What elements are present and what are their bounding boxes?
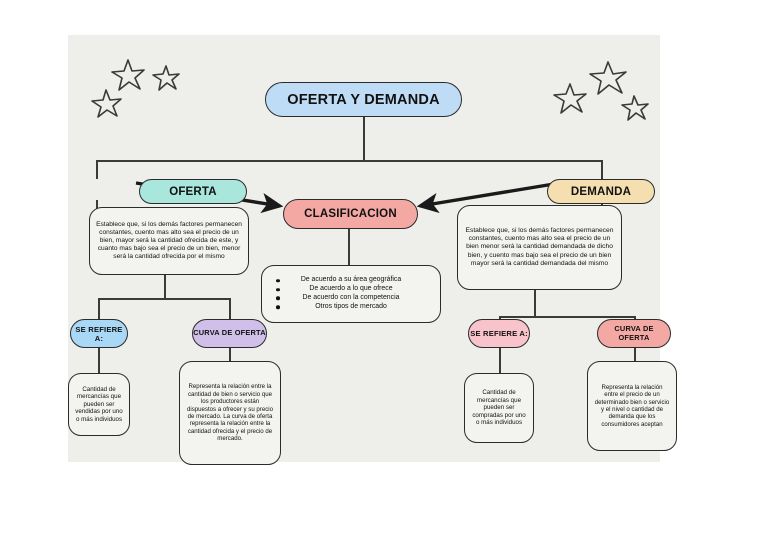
node-curva-de-oferta-left[interactable]: CURVA DE OFERTA	[192, 319, 267, 348]
node-oferta[interactable]: OFERTA	[139, 179, 247, 204]
list-item: De acuerdo a lo que ofrece	[272, 285, 430, 294]
connector-demanda-desc-stem	[534, 290, 536, 317]
connector-main-bus	[96, 160, 602, 162]
curva-de-oferta-right-label: CURVA DE OFERTA	[598, 325, 670, 343]
demanda-description-text: Establece que, si los demás factores per…	[464, 227, 615, 268]
clasificacion-label: CLASIFICACION	[304, 208, 397, 220]
star-cluster-right-icon	[536, 48, 654, 123]
connector-left-sub-bus	[98, 298, 230, 300]
list-item: Otros tipos de mercado	[272, 303, 430, 312]
connector-clasificacion-to-list	[348, 228, 350, 266]
node-clasificacion[interactable]: CLASIFICACION	[283, 199, 418, 229]
curva-de-oferta-left-description-text: Representa la relación entre la cantidad…	[186, 383, 274, 442]
se-refiere-a-right-label: SE REFIERE A:	[470, 329, 528, 338]
node-curva-de-oferta-right[interactable]: CURVA DE OFERTA	[597, 319, 671, 348]
diagram-canvas: OFERTA Y DEMANDA OFERTA Establece que, s…	[68, 35, 660, 462]
connector-curva-right-to-desc	[634, 348, 636, 362]
connector-curva-left-to-desc	[229, 348, 231, 362]
list-item: De acuerdo a su área geográfica	[272, 276, 430, 285]
connector-bus-to-oferta	[96, 160, 98, 179]
connector-se-refiere-right-to-desc	[499, 348, 501, 374]
title-label: OFERTA Y DEMANDA	[287, 92, 440, 108]
se-refiere-a-right-description-text: Cantidad de mercancías que pueden ser co…	[471, 389, 527, 427]
demanda-label: DEMANDA	[571, 186, 631, 198]
connector-title-stem	[363, 117, 365, 161]
se-refiere-a-left-label: SE REFIERE A:	[71, 325, 127, 343]
node-se-refiere-a-left[interactable]: SE REFIERE A:	[70, 319, 128, 348]
list-item: De acuerdo con la competencia	[272, 294, 430, 303]
se-refiere-a-left-description-text: Cantidad de mercancías que pueden ser ve…	[75, 386, 123, 424]
curva-de-oferta-right-description-text: Representa la relación entre el precio d…	[594, 384, 670, 429]
connector-sub-to-curva-left	[229, 298, 231, 320]
node-demanda[interactable]: DEMANDA	[547, 179, 655, 204]
node-oferta-description: Establece que, si los demás factores per…	[89, 207, 249, 275]
connector-right-sub-bus	[499, 316, 635, 318]
node-se-refiere-a-right[interactable]: SE REFIERE A:	[468, 319, 530, 348]
node-se-refiere-a-left-description: Cantidad de mercancías que pueden ser ve…	[68, 373, 130, 436]
connector-sub-to-se-refiere-left	[98, 298, 100, 320]
connector-oferta-desc-stem	[164, 274, 166, 299]
oferta-label: OFERTA	[169, 186, 217, 198]
node-curva-de-oferta-right-description: Representa la relación entre el precio d…	[587, 361, 677, 451]
curva-de-oferta-left-label: CURVA DE OFERTA	[193, 329, 266, 338]
node-se-refiere-a-right-description: Cantidad de mercancías que pueden ser co…	[464, 373, 534, 443]
node-title-oferta-y-demanda[interactable]: OFERTA Y DEMANDA	[265, 82, 462, 117]
star-cluster-left-icon	[86, 48, 198, 120]
node-curva-de-oferta-left-description: Representa la relación entre la cantidad…	[179, 361, 281, 465]
clasificacion-bullet-list: De acuerdo a su área geográfica De acuer…	[272, 276, 430, 312]
connector-bus-to-demanda	[601, 160, 603, 179]
node-demanda-description: Establece que, si los demás factores per…	[457, 205, 622, 290]
node-clasificacion-list: De acuerdo a su área geográfica De acuer…	[261, 265, 441, 323]
connector-se-refiere-left-to-desc	[98, 348, 100, 374]
oferta-description-text: Establece que, si los demás factores per…	[96, 221, 242, 261]
